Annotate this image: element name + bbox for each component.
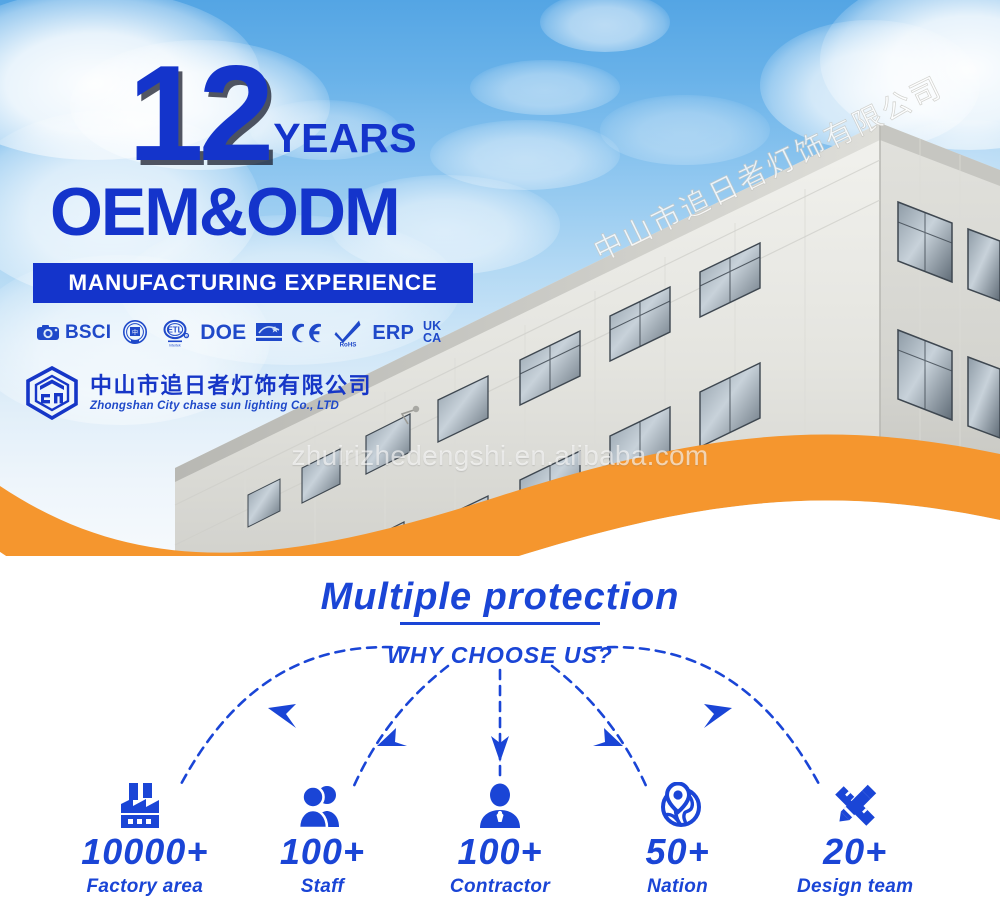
stat-label: Staff [301,876,344,898]
years-word-label: YEARS [273,115,417,178]
stat-label: Contractor [450,876,550,898]
stat-icon-wrap [474,778,526,830]
years-row: 12 YEARS [128,50,417,178]
person-tie-icon [474,782,526,830]
company-banner-page: 中山市追日者灯饰有限公司 12 YEARS [0,0,1000,916]
stat-value: 20+ [823,832,887,872]
stat-label: Nation [647,876,708,898]
oem-odm-title: OEM&ODM [50,178,399,246]
stat-value: 100+ [457,832,542,872]
cqc-seal-icon: 中 [120,318,150,348]
company-logo-block: 中山市追日者灯饰有限公司 Zhongshan City chase sun li… [24,366,372,420]
svg-text:Intertek: Intertek [170,344,182,348]
why-choose-us-section: Multiple protection WHY CHOOSE US? [0,556,1000,916]
factory-icon [115,782,175,830]
cert-rohs: RoHS [333,318,363,348]
company-name-en: Zhongshan City chase sun lighting Co., L… [90,400,372,412]
cert-etl: ETL us Intertek [159,317,191,349]
cert-doe-label: DOE [200,321,246,345]
globe-pin-icon [651,782,705,830]
cert-energy-star [255,321,283,345]
stat-icon-wrap [827,778,883,830]
stat-staff: 100+ Staff [234,778,412,898]
energy-star-icon [255,321,283,345]
headline-block: 12 YEARS OEM&ODM MANUFACTURING EXPERIENC… [0,0,520,440]
stat-icon-wrap [293,778,351,830]
cert-ukca: UK CA [423,321,441,345]
etl-intertek-icon: ETL us Intertek [159,317,191,349]
svg-text:RoHS: RoHS [340,341,357,348]
cert-erp-label: ERP [372,322,414,345]
stat-icon-wrap [115,778,175,830]
ukca-line2: CA [423,333,441,345]
stat-nation: 50+ Nation [589,778,767,898]
stat-label: Design team [797,876,913,898]
cert-doe: DOE [200,321,246,345]
stat-label: Factory area [86,876,203,898]
cert-cqc: 中 [120,318,150,348]
section-title: Multiple protection [0,576,1000,619]
years-number: 12 [128,50,269,178]
cert-bsci: BSCI [36,322,111,344]
certification-logos-row: BSCI 中 ETL [36,316,441,350]
company-name-cn: 中山市追日者灯饰有限公司 [90,374,372,398]
hero-section: 中山市追日者灯饰有限公司 12 YEARS [0,0,1000,560]
stat-design-team: 20+ Design team [766,778,944,898]
bsci-icon [36,323,62,343]
company-name-block: 中山市追日者灯饰有限公司 Zhongshan City chase sun li… [90,374,372,411]
ukca-icon: UK CA [423,321,441,345]
company-shield-logo [24,366,80,420]
cert-ce [292,322,324,344]
ce-icon [292,322,324,344]
section-title-underline [400,622,600,625]
cert-erp: ERP [372,322,414,345]
stat-contractor: 100+ Contractor [411,778,589,898]
stat-icon-wrap [651,778,705,830]
rohs-check-icon: RoHS [333,318,363,348]
manufacturing-experience-label: MANUFACTURING EXPERIENCE [68,270,437,296]
manufacturing-experience-banner: MANUFACTURING EXPERIENCE [33,263,473,303]
stat-value: 10000+ [81,832,208,872]
svg-text:ETL: ETL [168,326,183,335]
stat-value: 50+ [646,832,710,872]
ruler-pencil-icon [827,782,883,830]
svg-text:us: us [185,334,189,338]
people-group-icon [293,782,351,830]
svg-text:中: 中 [132,329,138,337]
stat-value: 100+ [280,832,365,872]
cert-bsci-label: BSCI [65,322,111,344]
stat-factory-area: 10000+ Factory area [56,778,234,898]
stats-row: 10000+ Factory area 100+ Staff [0,778,1000,916]
